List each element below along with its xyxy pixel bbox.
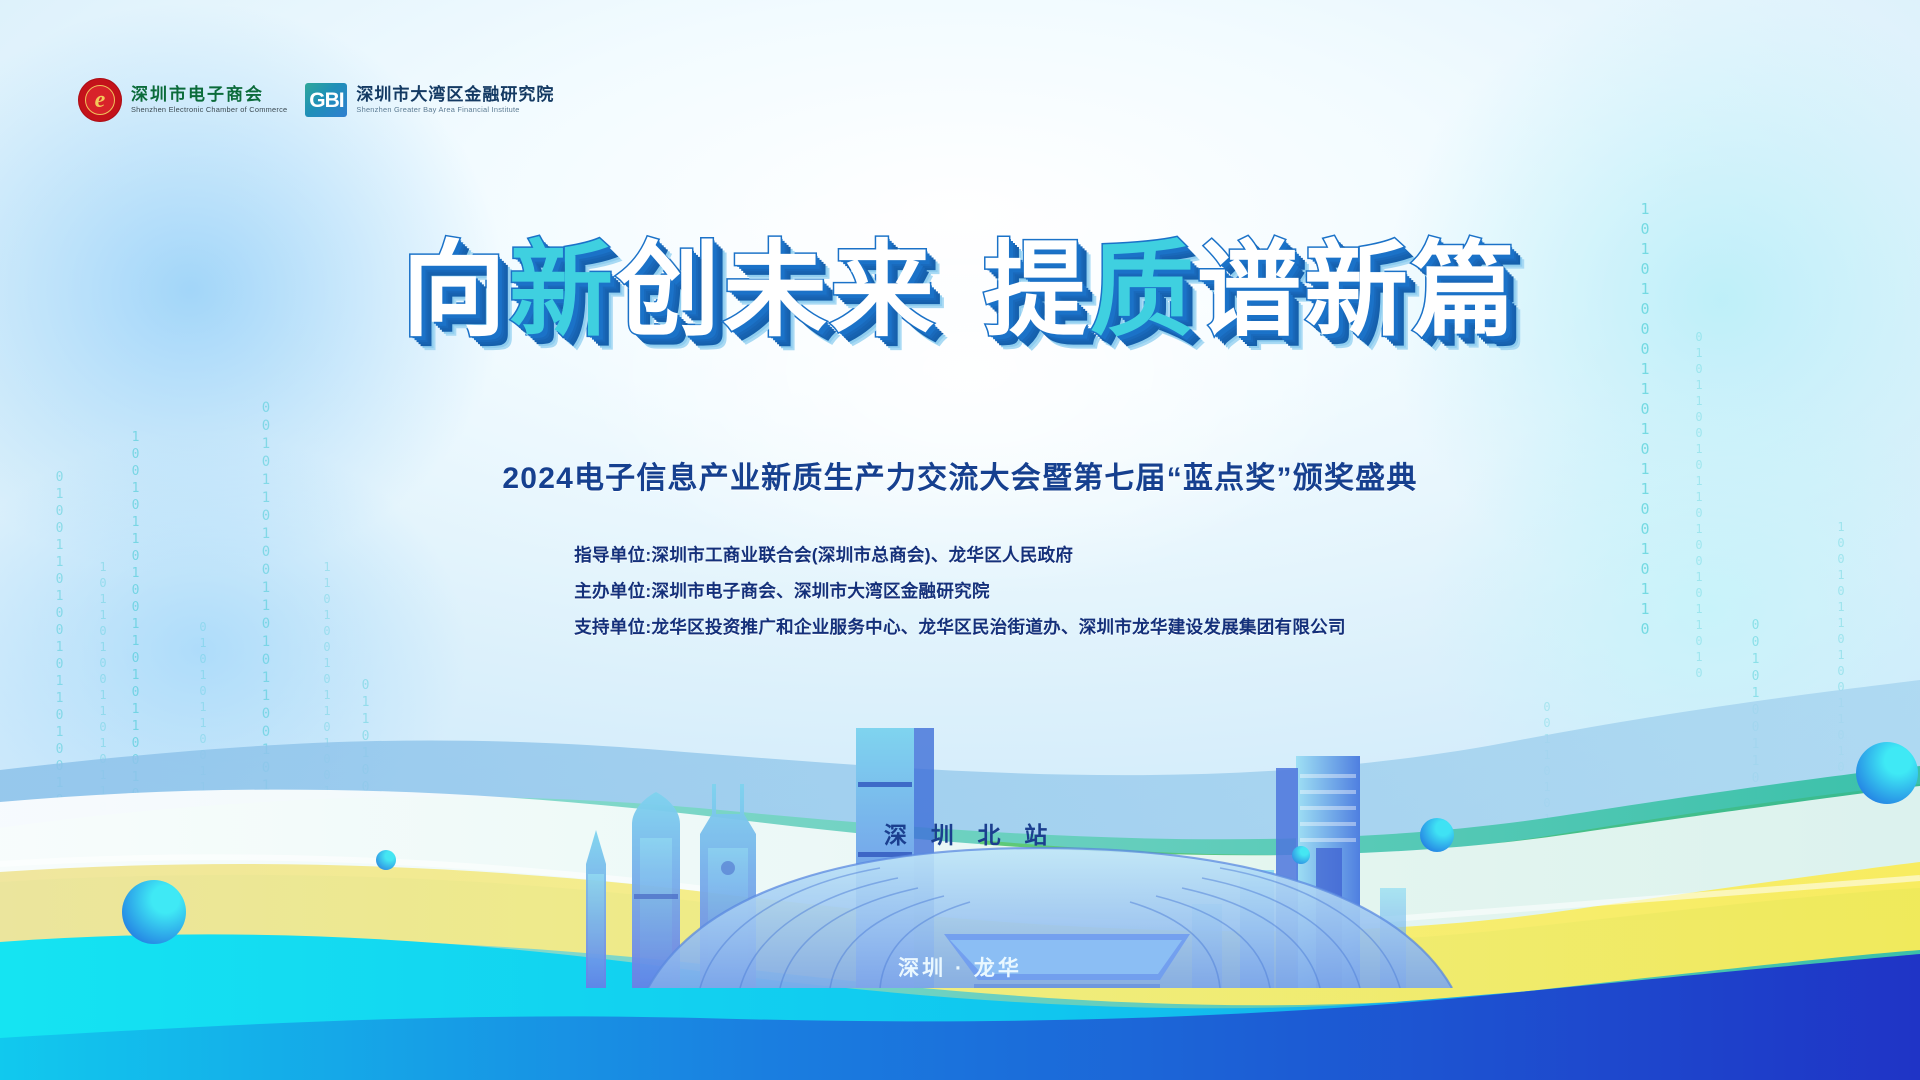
title-char: 创 — [616, 236, 723, 346]
logo-name-cn: 深圳市大湾区金融研究院 — [356, 86, 554, 104]
decorative-sphere — [122, 880, 186, 944]
decorative-sphere — [376, 850, 396, 870]
logo-text-block: 深圳市电子商会 Shenzhen Electronic Chamber of C… — [131, 86, 287, 115]
seal-emblem-icon — [78, 78, 122, 122]
decorative-sphere — [1856, 742, 1918, 804]
main-title-block: 向新创未来提质谱新篇 — [0, 236, 1920, 346]
decorative-sphere — [1420, 818, 1454, 852]
title-char: 未 — [723, 236, 830, 346]
gbi-monogram-icon: GBI — [305, 83, 347, 117]
organizer-line: 主办单位:深圳市电子商会、深圳市大湾区金融研究院 — [574, 574, 1346, 610]
title-char: 来 — [830, 236, 937, 346]
sponsor-logo-row: 深圳市电子商会 Shenzhen Electronic Chamber of C… — [78, 78, 554, 122]
logo-name-cn: 深圳市电子商会 — [131, 86, 287, 104]
title-char: 新 — [1304, 236, 1411, 346]
title-char: 向 — [402, 236, 509, 346]
logo-gba-financial-institute: GBI 深圳市大湾区金融研究院 Shenzhen Greater Bay Are… — [305, 83, 554, 117]
title-char: 质 — [1090, 236, 1197, 346]
place-name-label: 深圳 · 龙华 — [0, 952, 1920, 982]
main-title: 向新创未来提质谱新篇 — [402, 236, 1518, 346]
logo-shenzhen-electronic-chamber: 深圳市电子商会 Shenzhen Electronic Chamber of C… — [78, 78, 287, 122]
title-char: 篇 — [1411, 236, 1518, 346]
station-name-label: 深 圳 北 站 — [884, 816, 1056, 850]
logo-name-en: Shenzhen Electronic Chamber of Commerce — [131, 105, 287, 114]
event-subtitle: 2024电子信息产业新质生产力交流大会暨第七届“蓝点奖”颁奖盛典 — [0, 453, 1920, 497]
title-char: 新 — [509, 236, 616, 346]
title-char: 提 — [983, 236, 1090, 346]
decorative-sphere — [1292, 846, 1310, 864]
logo-text-block: 深圳市大湾区金融研究院 Shenzhen Greater Bay Area Fi… — [356, 86, 554, 115]
title-char: 谱 — [1197, 236, 1304, 346]
poster-canvas: 0100110100101101001011101101001101011010… — [0, 0, 1920, 1080]
organizer-line: 指导单位:深圳市工商业联合会(深圳市总商会)、龙华区人民政府 — [574, 538, 1346, 574]
logo-name-en: Shenzhen Greater Bay Area Financial Inst… — [356, 105, 554, 114]
